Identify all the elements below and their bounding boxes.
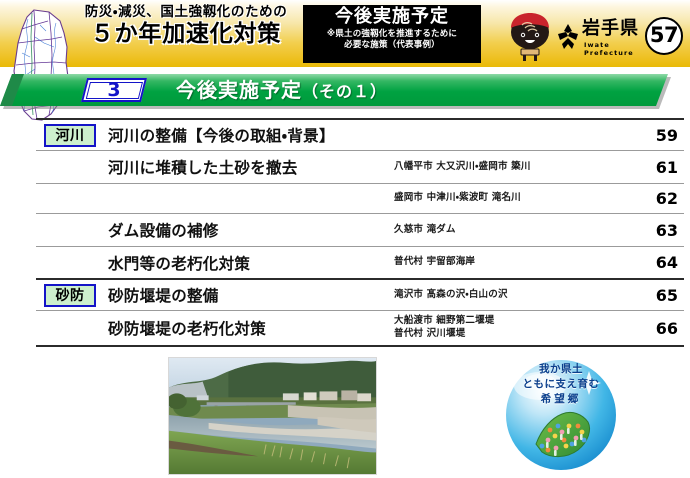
prefecture-name: 岩手県 (582, 20, 639, 38)
item-label: 砂防堰堤の整備 (104, 284, 388, 306)
sobacchi-mascot-icon (508, 10, 552, 62)
item-label: 河川に堆積した土砂を撤去 (104, 156, 388, 178)
notice-box: 今後実施予定 ※県土の強靱化を推進するために 必要な施策（代表事例） (303, 5, 481, 63)
iwate-kibou-kyo-logo: 我か県土 ともに支え育む 希望郷 (500, 356, 622, 474)
category-cell (36, 311, 104, 345)
item-label: 河川の整備【今後の取組・背景】 (104, 124, 388, 146)
header-title: 防災・減災、国土強靱化のための ５か年加速化対策 (62, 6, 310, 46)
item-label: 砂防堰堤の老朽化対策 (104, 317, 388, 339)
header-underline (0, 67, 690, 69)
category-badge-river: 河川 (44, 124, 96, 147)
section-bar: 3 今後実施予定（その１） (0, 74, 690, 110)
prefecture-emblem-icon (556, 22, 580, 52)
category-cell (36, 214, 104, 246)
category-cell: 砂防 (36, 280, 104, 310)
category-cell (36, 184, 104, 213)
section-number: 3 (84, 78, 144, 102)
item-detail: 大船渡市 細野第二堰堤 普代村 沢川堰堤 (388, 315, 622, 341)
logo-text: 我か県土 ともに支え育む 希望郷 (500, 362, 622, 408)
section-title-suffix: （その１） (302, 82, 387, 101)
item-page: 66 (622, 319, 684, 338)
notice-title: 今後実施予定 (303, 8, 481, 27)
item-page: 64 (622, 253, 684, 272)
section-title-main: 今後実施予定 (176, 78, 302, 102)
header-title-line2: ５か年加速化対策 (62, 23, 310, 46)
item-detail: 普代村 宇留部海岸 (388, 256, 622, 269)
table-row[interactable]: 砂防 砂防堰堤の整備 滝沢市 髙森の沢・白山の沢 65 (36, 278, 684, 310)
notice-subtitle-line2: 必要な施策（代表事例） (303, 40, 481, 51)
items-table: 河川 河川の整備【今後の取組・背景】 59 河川に堆積した土砂を撤去 八幡平市 … (36, 118, 684, 347)
category-cell: 河川 (36, 120, 104, 150)
notice-subtitle: ※県土の強靱化を推進するために 必要な施策（代表事例） (303, 29, 481, 50)
item-page: 61 (622, 158, 684, 177)
item-detail: 八幡平市 大又沢川・盛岡市 簗川 (388, 161, 622, 174)
notice-subtitle-line1: ※県土の強靱化を推進するために (303, 29, 481, 40)
item-page: 62 (622, 189, 684, 208)
table-row[interactable]: 河川に堆積した土砂を撤去 八幡平市 大又沢川・盛岡市 簗川 61 (36, 150, 684, 183)
table-row[interactable]: 盛岡市 中津川・紫波町 滝名川 62 (36, 183, 684, 213)
table-row[interactable]: 河川 河川の整備【今後の取組・背景】 59 (36, 118, 684, 150)
item-label: 水門等の老朽化対策 (104, 252, 388, 274)
logo-text-line2: ともに支え育む (500, 377, 622, 392)
iwate-prefecture-logo-icon: 岩手県 Iwate Prefecture (556, 20, 640, 54)
prefecture-name-en: Iwate Prefecture (584, 41, 640, 57)
table-row[interactable]: 砂防堰堤の老朽化対策 大船渡市 細野第二堰堤 普代村 沢川堰堤 66 (36, 310, 684, 347)
category-cell (36, 151, 104, 183)
item-detail: 滝沢市 髙森の沢・白山の沢 (388, 289, 622, 302)
river-landscape-photo (168, 357, 377, 475)
item-detail: 盛岡市 中津川・紫波町 滝名川 (388, 192, 622, 205)
item-page: 59 (622, 126, 684, 145)
item-page: 63 (622, 221, 684, 240)
item-page: 65 (622, 286, 684, 305)
category-cell (36, 247, 104, 278)
photo-graphic (169, 358, 376, 474)
table-row[interactable]: 水門等の老朽化対策 普代村 宇留部海岸 64 (36, 246, 684, 278)
category-badge-sabo: 砂防 (44, 284, 96, 307)
item-detail: 久慈市 滝ダム (388, 224, 622, 237)
page-number-badge: 57 (645, 17, 683, 55)
item-label: ダム設備の補修 (104, 219, 388, 241)
table-row[interactable]: ダム設備の補修 久慈市 滝ダム 63 (36, 213, 684, 246)
logo-text-line3: 希望郷 (500, 392, 622, 407)
logo-text-line1: 我か県土 (500, 362, 622, 377)
section-title: 今後実施予定（その１） (176, 79, 387, 103)
header-title-line1: 防災・減災、国土強靱化のための (62, 6, 310, 20)
